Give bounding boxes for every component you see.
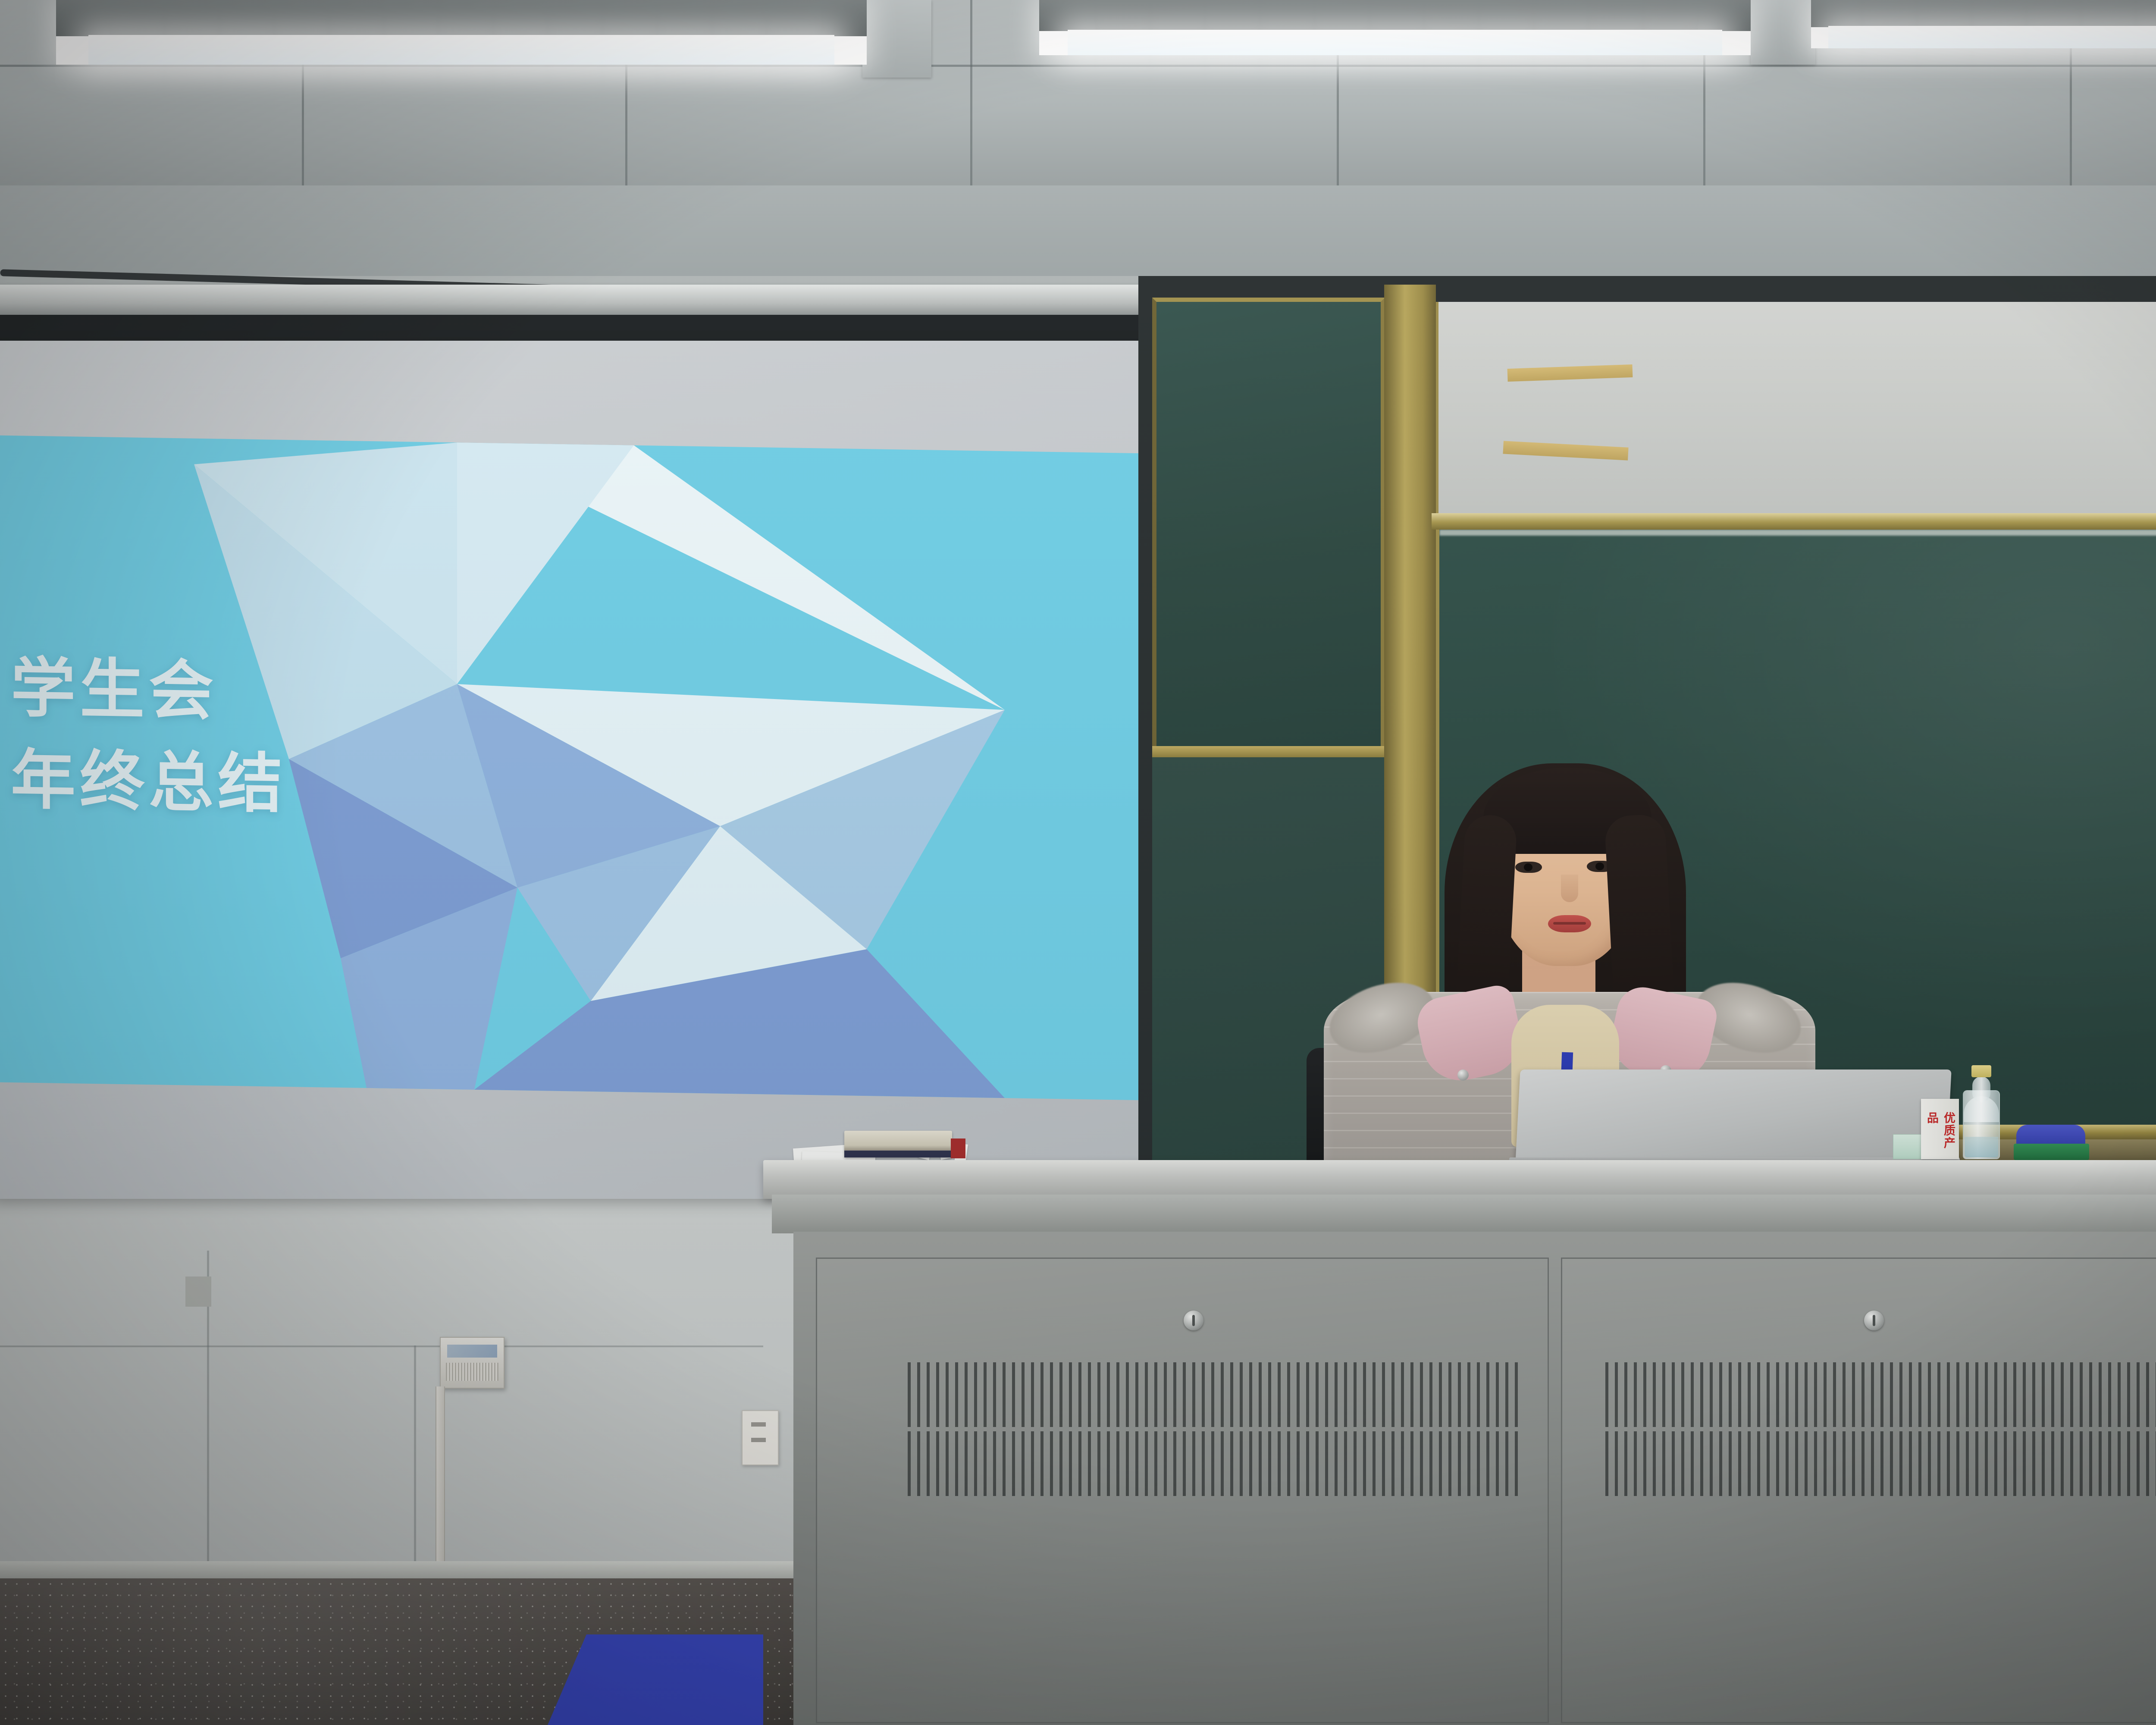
slide-text-block: 学生会 年终总结 bbox=[11, 643, 287, 831]
podium-cabinet bbox=[793, 1232, 2156, 1725]
podium-door-left[interactable] bbox=[816, 1258, 1549, 1723]
conduit-left bbox=[436, 1386, 445, 1563]
podium-apron bbox=[772, 1195, 2156, 1233]
mouth bbox=[1548, 915, 1591, 932]
chalk-box-label: 优质产品 bbox=[1923, 1112, 1957, 1159]
eye-left bbox=[1515, 862, 1542, 873]
ceiling-light-2 bbox=[1039, 0, 1751, 55]
projector-screen-topbar bbox=[0, 315, 1199, 342]
wall-socket-left[interactable] bbox=[742, 1410, 779, 1465]
podium-lock[interactable] bbox=[1864, 1311, 1884, 1330]
electrical-junction-box-left bbox=[440, 1337, 505, 1389]
classroom-photo: 学生会 年终总结 港航院学生组织 2018年年终总结大会 bbox=[0, 0, 2156, 1725]
chalk-box: 优质产品 bbox=[1921, 1099, 1959, 1159]
nose bbox=[1561, 875, 1578, 902]
bottle-cap bbox=[1971, 1065, 1991, 1077]
water-bottle[interactable] bbox=[1963, 1065, 2000, 1159]
projector-screen-roller[interactable] bbox=[0, 285, 1225, 316]
board-eraser[interactable] bbox=[2014, 1125, 2089, 1160]
projector-screen[interactable]: 学生会 年终总结 bbox=[0, 341, 1151, 1199]
tape-mark bbox=[1507, 364, 1633, 382]
slide-line-1: 学生会 bbox=[11, 643, 287, 739]
podium-lock[interactable] bbox=[1184, 1311, 1203, 1330]
laptop-lid[interactable] bbox=[1515, 1069, 1952, 1164]
jacket-snap bbox=[1457, 1069, 1469, 1081]
ceiling bbox=[0, 0, 2156, 185]
podium-desktop bbox=[763, 1160, 2156, 1199]
blackboard-side-panel-upper bbox=[1152, 298, 1385, 765]
book-on-desk bbox=[844, 1131, 952, 1157]
presentation-slide: 学生会 年终总结 bbox=[0, 435, 1143, 1100]
red-bookmark bbox=[951, 1138, 965, 1158]
blackboard-top-rail bbox=[1432, 513, 2156, 530]
wall-bracket bbox=[185, 1276, 211, 1307]
podium-door-right[interactable] bbox=[1561, 1258, 2156, 1723]
ceiling-light-1 bbox=[56, 0, 867, 65]
blackboard-upper-panel bbox=[1436, 302, 2156, 513]
slide-line-2: 年终总结 bbox=[11, 734, 287, 831]
ceiling-light-3 bbox=[1811, 0, 2156, 48]
tape-mark bbox=[1503, 441, 1628, 460]
